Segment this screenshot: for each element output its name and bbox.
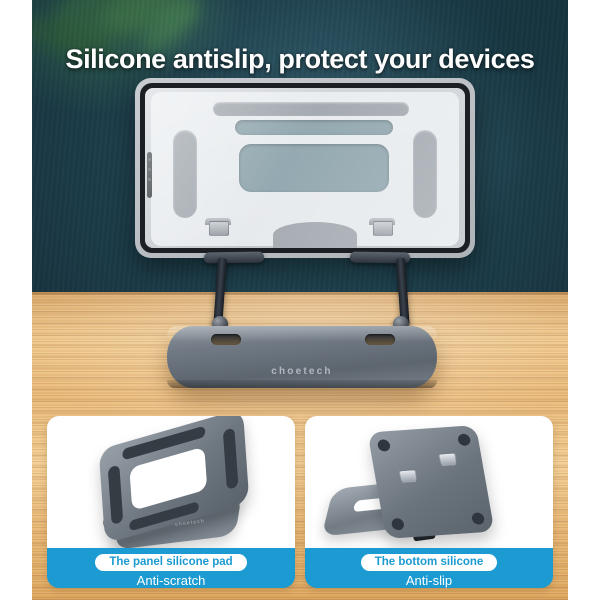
feature-card-caption: The bottom silicone Anti-slip	[305, 548, 553, 588]
screen-glare	[145, 88, 465, 248]
feature-card-image: choetech	[47, 416, 295, 548]
base-hinge-slot	[211, 334, 241, 345]
panel-support-clip	[398, 469, 417, 483]
feature-pill-label: The panel silicone pad	[95, 554, 246, 571]
stand-base-plate: choetech	[167, 326, 437, 388]
feature-card-panel-silicone-pad: choetech The panel silicone pad Anti-scr…	[47, 416, 295, 588]
base-edge	[167, 380, 437, 388]
panel-support-clip	[438, 452, 457, 466]
feature-card-image	[305, 416, 553, 548]
brand-logo: choetech	[167, 366, 437, 377]
silicone-foot	[457, 433, 471, 446]
feature-subtitle: Anti-scratch	[47, 573, 295, 588]
panel-cutout	[129, 447, 207, 511]
feature-card-caption: The panel silicone pad Anti-scratch	[47, 548, 295, 588]
stand-top-view-illustration: choetech	[47, 416, 295, 548]
silicone-pad-strip	[223, 427, 239, 489]
base-highlight	[167, 326, 437, 342]
base-hinge-slot	[365, 334, 395, 345]
tablet-device	[135, 78, 475, 258]
silicone-foot	[471, 512, 485, 525]
hero-product: choetech	[32, 0, 568, 400]
tablet-bezel	[140, 83, 470, 253]
product-poster: Silicone antislip, protect your devices	[0, 0, 600, 600]
stand-underside-illustration	[305, 416, 553, 548]
tablet-screen	[145, 88, 465, 248]
stand-bottom-lip	[204, 251, 264, 263]
silicone-pad-strip	[108, 465, 124, 525]
feature-subtitle: Anti-slip	[305, 573, 553, 588]
stand-panel-underside	[367, 425, 494, 539]
feature-card-bottom-silicone: The bottom silicone Anti-slip	[305, 416, 553, 588]
silicone-foot	[377, 439, 391, 452]
silicone-foot	[391, 518, 405, 531]
feature-pill-label: The bottom silicone	[361, 554, 498, 571]
